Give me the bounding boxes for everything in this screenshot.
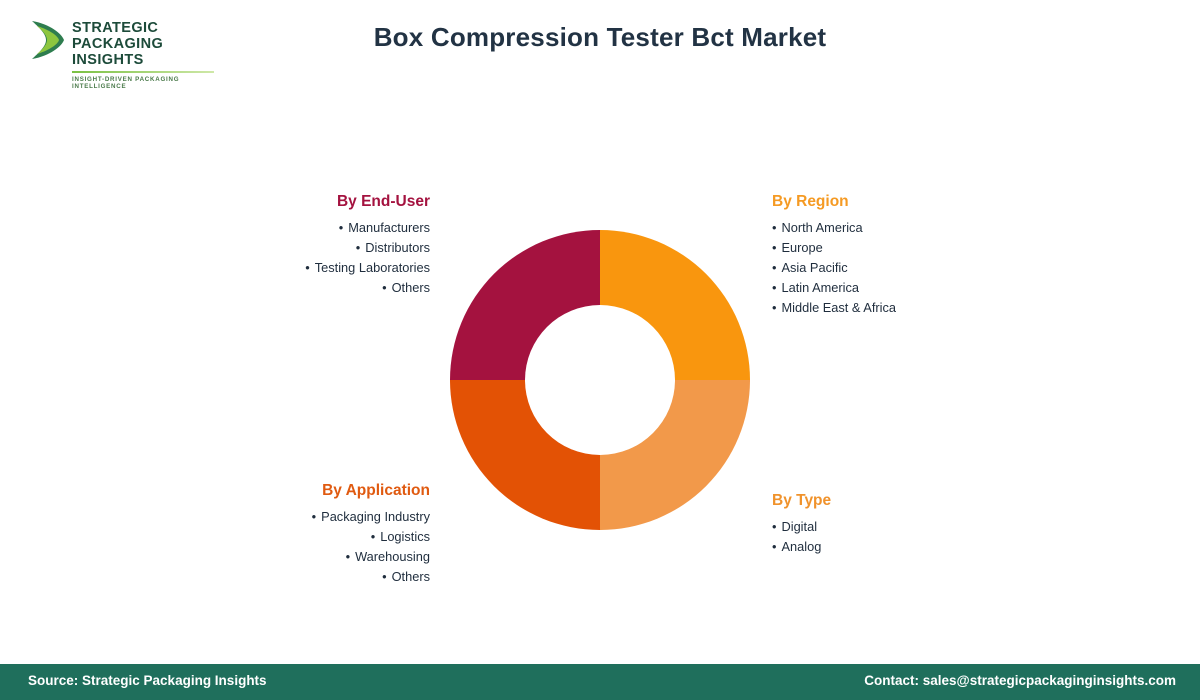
segment-application-title: By Application	[180, 482, 430, 500]
segment-type-title: By Type	[772, 492, 1032, 510]
list-item: Others	[180, 567, 430, 587]
segment-region-title: By Region	[772, 193, 1032, 211]
segment-end-user-title: By End-User	[180, 193, 430, 211]
segment-end-user: By End-User Manufacturers Distributors T…	[180, 193, 430, 298]
list-item: Latin America	[772, 278, 1032, 298]
segment-region-list: North America Europe Asia Pacific Latin …	[772, 218, 1032, 318]
footer-source: Source: Strategic Packaging Insights	[28, 673, 267, 688]
page-title: Box Compression Tester Bct Market	[0, 22, 1200, 53]
donut-chart	[450, 230, 750, 530]
segment-application-list: Packaging Industry Logistics Warehousing…	[180, 507, 430, 587]
list-item: Manufacturers	[180, 218, 430, 238]
footer-contact: Contact: sales@strategicpackaginginsight…	[864, 673, 1176, 688]
segment-region: By Region North America Europe Asia Paci…	[772, 193, 1032, 318]
list-item: Logistics	[180, 527, 430, 547]
list-item: Asia Pacific	[772, 258, 1032, 278]
list-item: Warehousing	[180, 547, 430, 567]
segment-type-list: Digital Analog	[772, 517, 1032, 557]
footer-bar: Source: Strategic Packaging Insights Con…	[0, 664, 1200, 700]
list-item: Digital	[772, 517, 1032, 537]
list-item: North America	[772, 218, 1032, 238]
list-item: Analog	[772, 537, 1032, 557]
list-item: Testing Laboratories	[180, 258, 430, 278]
donut-center-hole	[525, 305, 675, 455]
list-item: Distributors	[180, 238, 430, 258]
segment-application: By Application Packaging Industry Logist…	[180, 482, 430, 587]
list-item: Middle East & Africa	[772, 298, 1032, 318]
brand-logo-divider	[72, 71, 214, 73]
brand-logo-tagline: INSIGHT-DRIVEN PACKAGING INTELLIGENCE	[72, 76, 218, 90]
list-item: Europe	[772, 238, 1032, 258]
list-item: Others	[180, 278, 430, 298]
list-item: Packaging Industry	[180, 507, 430, 527]
segment-end-user-list: Manufacturers Distributors Testing Labor…	[180, 218, 430, 298]
segment-type: By Type Digital Analog	[772, 492, 1032, 557]
